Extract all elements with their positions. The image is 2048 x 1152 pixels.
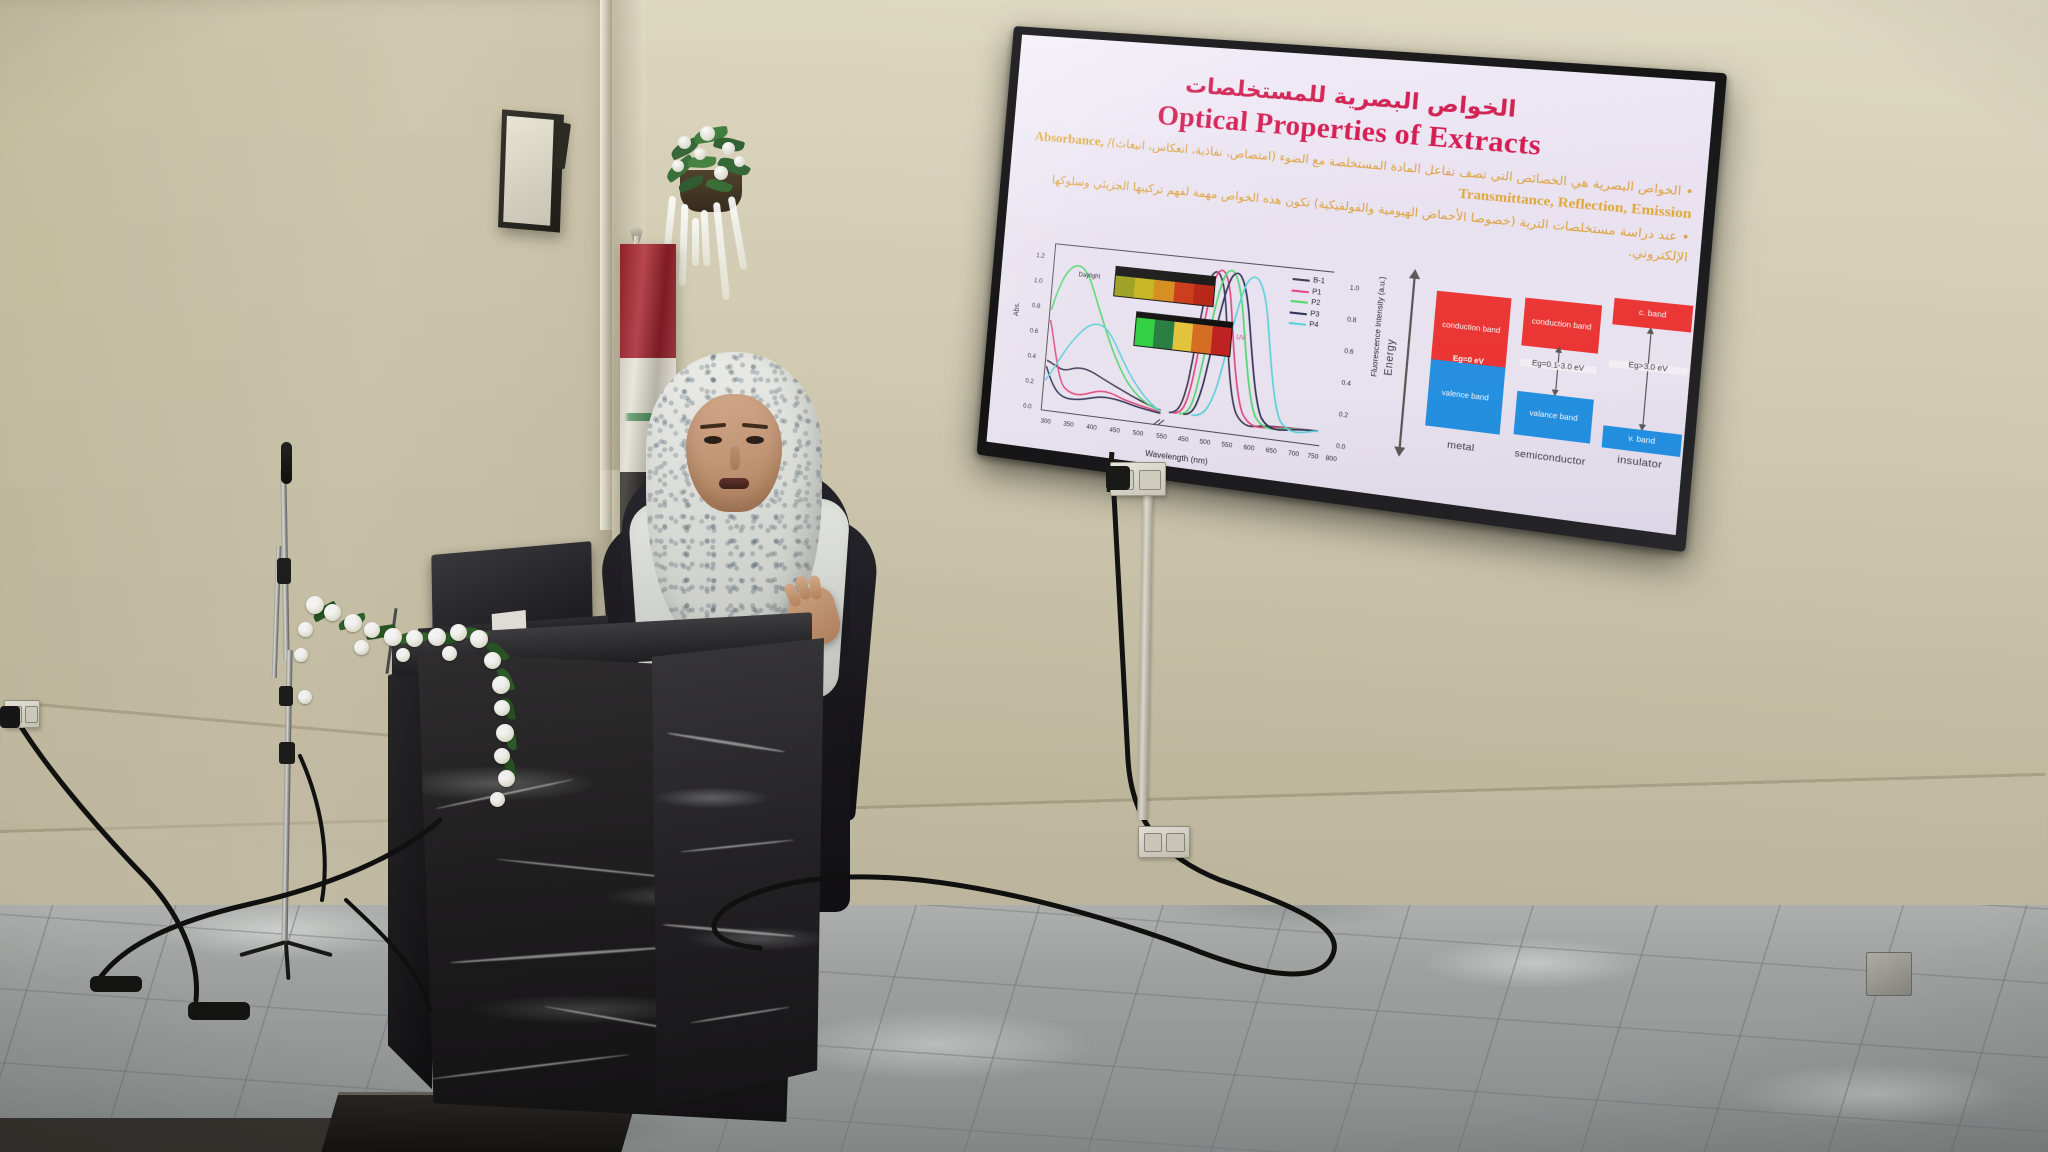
plug-under-tv: [1106, 466, 1130, 490]
wall-outlet-lower[interactable]: [1138, 826, 1190, 858]
presentation-room-photo: الخواص البصرية للمستخلصات Optical Proper…: [0, 0, 2048, 1152]
plug-left: [0, 706, 20, 728]
power-cables: [0, 0, 2048, 1152]
wall-outlet-right[interactable]: [1866, 952, 1912, 996]
